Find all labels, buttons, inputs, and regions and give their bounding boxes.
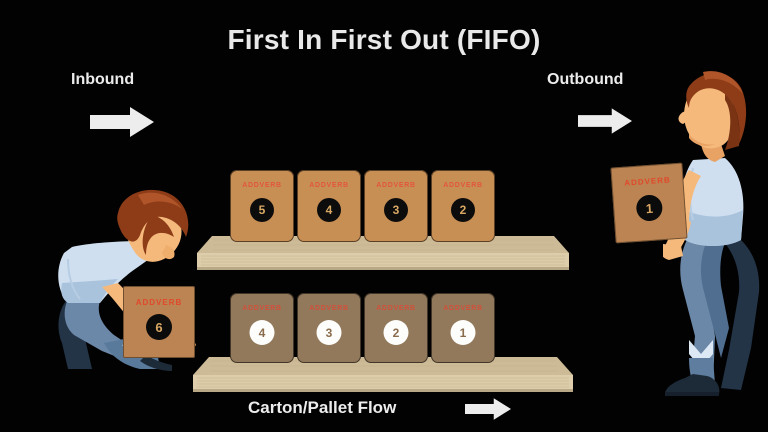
arrow-right-icon: [90, 107, 154, 137]
inbound-carried-box[interactable]: ADDVERB 6: [123, 286, 195, 358]
pallet-box[interactable]: ADDVERB 1: [431, 293, 495, 363]
box-number-badge: 3: [317, 320, 342, 345]
arrow-right-icon: [465, 398, 511, 420]
pallet-box[interactable]: ADDVERB 2: [431, 170, 495, 242]
box-brand: ADDVERB: [230, 182, 294, 189]
box-number-badge: 6: [146, 314, 172, 340]
box-brand: ADDVERB: [230, 305, 294, 312]
pallet-box[interactable]: ADDVERB 5: [230, 170, 294, 242]
fifo-diagram: First In First Out (FIFO) Inbound Outbou…: [0, 0, 768, 432]
box-brand: ADDVERB: [364, 182, 428, 189]
pallet-box[interactable]: ADDVERB 4: [297, 170, 361, 242]
box-brand: ADDVERB: [431, 182, 495, 189]
pallet-box[interactable]: ADDVERB 3: [364, 170, 428, 242]
pallet-box[interactable]: ADDVERB 2: [364, 293, 428, 363]
box-number-badge: 3: [384, 198, 408, 222]
box-brand: ADDVERB: [297, 305, 361, 312]
outbound-carried-box[interactable]: ADDVERB 1: [610, 163, 687, 244]
box-number-badge: 1: [635, 194, 663, 222]
box-number-badge: 1: [451, 320, 476, 345]
pallet-box[interactable]: ADDVERB 3: [297, 293, 361, 363]
inbound-label: Inbound: [71, 71, 134, 89]
box-number-badge: 2: [384, 320, 409, 345]
outbound-label: Outbound: [547, 71, 623, 89]
box-number-badge: 5: [250, 198, 274, 222]
box-brand: ADDVERB: [611, 175, 683, 189]
box-number-badge: 4: [317, 198, 341, 222]
box-brand: ADDVERB: [364, 305, 428, 312]
pallet-box[interactable]: ADDVERB 4: [230, 293, 294, 363]
upper-shelf-box-row: ADDVERB 5 ADDVERB 4 ADDVERB 3 ADDVERB 2: [230, 170, 495, 242]
page-title: First In First Out (FIFO): [0, 24, 768, 56]
box-number-badge: 4: [250, 320, 275, 345]
box-brand: ADDVERB: [123, 298, 195, 307]
carton-pallet-flow-label: Carton/Pallet Flow: [248, 398, 396, 418]
box-number-badge: 2: [451, 198, 475, 222]
lower-shelf-box-row: ADDVERB 4 ADDVERB 3 ADDVERB 2 ADDVERB 1: [230, 293, 495, 363]
box-brand: ADDVERB: [297, 182, 361, 189]
arrow-right-icon: [578, 107, 632, 135]
box-brand: ADDVERB: [431, 305, 495, 312]
